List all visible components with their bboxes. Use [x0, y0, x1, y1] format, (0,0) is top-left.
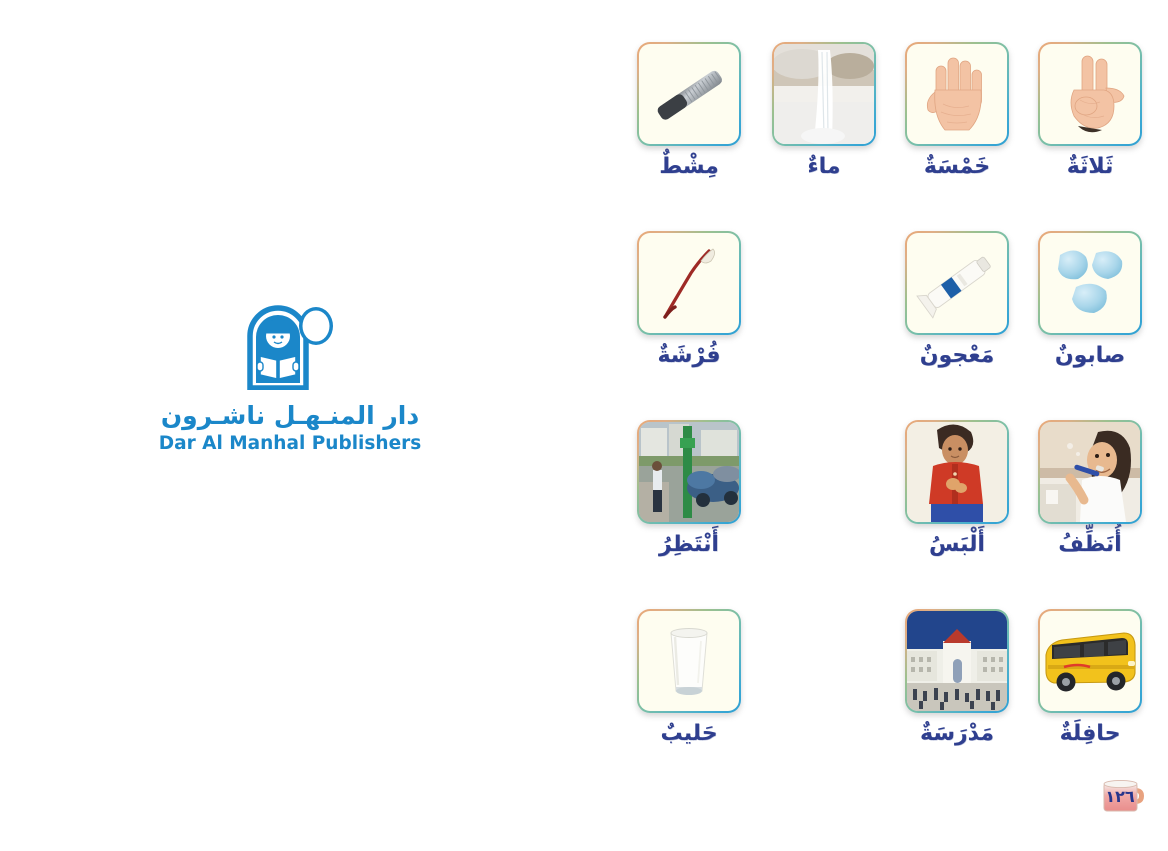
school-building-photo — [907, 611, 1007, 711]
card-image-toothbrush — [639, 233, 739, 333]
grid-row: فُرْشَةٌ مَعْجونٌ — [620, 231, 1150, 420]
comb-illustration — [639, 44, 739, 144]
grid-row: حَليبٌ — [620, 609, 1150, 798]
publisher-name-arabic: دار المنـهـل ناشـرون — [130, 402, 450, 431]
card-frame — [1038, 420, 1142, 524]
word-card-school[interactable]: مَدْرَسَةٌ — [905, 609, 1009, 746]
publisher-name-english: Dar Al Manhal Publishers — [130, 433, 450, 454]
page-number-badge: ١٢٦ — [1102, 776, 1146, 816]
card-label: أَنْتَظِرُ — [637, 533, 741, 557]
card-frame — [905, 42, 1009, 146]
card-frame — [772, 42, 876, 146]
soap-bars-illustration — [1040, 233, 1140, 333]
card-frame — [637, 420, 741, 524]
running-water-tap-photo — [774, 44, 874, 144]
word-card-i-wait[interactable]: أَنْتَظِرُ — [637, 420, 741, 557]
card-image-waiting — [639, 422, 739, 522]
child-reading-book-arch-logo — [244, 300, 336, 390]
card-label: خَمْسَةٌ — [905, 155, 1009, 179]
card-image-three — [1040, 44, 1140, 144]
card-frame — [1038, 609, 1142, 713]
card-label: ثَلاثَةٌ — [1038, 155, 1142, 179]
publisher-block: دار المنـهـل ناشـرون Dar Al Manhal Publi… — [130, 300, 450, 454]
card-frame — [1038, 231, 1142, 335]
word-card-toothpaste[interactable]: مَعْجونٌ — [905, 231, 1009, 368]
yellow-bus-illustration — [1040, 611, 1140, 711]
man-waiting-street-photo — [639, 422, 739, 522]
word-card-i-clean[interactable]: أُنَظِّفُ — [1038, 420, 1142, 557]
child-getting-dressed-photo — [907, 422, 1007, 522]
card-frame — [637, 231, 741, 335]
glass-of-milk-illustration — [639, 611, 739, 711]
card-label: ماءٌ — [772, 155, 876, 179]
word-card-comb[interactable]: مِشْطٌ — [637, 42, 741, 179]
hand-five-fingers-photo — [907, 44, 1007, 144]
card-label: صابونٌ — [1038, 344, 1142, 368]
word-card-i-wear[interactable]: أَلْبَسُ — [905, 420, 1009, 557]
card-frame — [905, 609, 1009, 713]
card-label: مَعْجونٌ — [905, 344, 1009, 368]
card-frame — [905, 420, 1009, 524]
card-label: فُرْشَةٌ — [637, 344, 741, 368]
word-card-five[interactable]: خَمْسَةٌ — [905, 42, 1009, 179]
hand-three-fingers-photo — [1040, 44, 1140, 144]
card-label: أُنَظِّفُ — [1038, 533, 1142, 557]
page-number-text: ١٢٦ — [1102, 787, 1138, 806]
card-label: مَدْرَسَةٌ — [905, 722, 1009, 746]
card-image-bus — [1040, 611, 1140, 711]
card-frame — [637, 609, 741, 713]
word-card-water[interactable]: ماءٌ — [772, 42, 876, 179]
word-card-toothbrush[interactable]: فُرْشَةٌ — [637, 231, 741, 368]
card-image-toothpaste — [907, 233, 1007, 333]
vocabulary-picture-grid: مِشْطٌ — [620, 42, 1150, 798]
grid-row: أَنْتَظِرُ — [620, 420, 1150, 609]
card-frame — [905, 231, 1009, 335]
card-frame — [637, 42, 741, 146]
card-image-comb — [639, 44, 739, 144]
toothpaste-tube-illustration — [907, 233, 1007, 333]
card-label: مِشْطٌ — [637, 155, 741, 179]
card-label: حَليبٌ — [637, 722, 741, 746]
word-card-bus[interactable]: حافِلَةٌ — [1038, 609, 1142, 746]
grid-row: مِشْطٌ — [620, 42, 1150, 231]
card-image-water — [774, 44, 874, 144]
card-image-brushing-teeth — [1040, 422, 1140, 522]
card-label: حافِلَةٌ — [1038, 722, 1142, 746]
card-image-school — [907, 611, 1007, 711]
card-image-five — [907, 44, 1007, 144]
card-image-milk — [639, 611, 739, 711]
word-card-soap[interactable]: صابونٌ — [1038, 231, 1142, 368]
card-frame — [1038, 42, 1142, 146]
card-image-dressing — [907, 422, 1007, 522]
card-label: أَلْبَسُ — [905, 533, 1009, 557]
word-card-three[interactable]: ثَلاثَةٌ — [1038, 42, 1142, 179]
girl-brushing-teeth-photo — [1040, 422, 1140, 522]
word-card-milk[interactable]: حَليبٌ — [637, 609, 741, 746]
toothbrush-illustration — [639, 233, 739, 333]
card-image-soap — [1040, 233, 1140, 333]
